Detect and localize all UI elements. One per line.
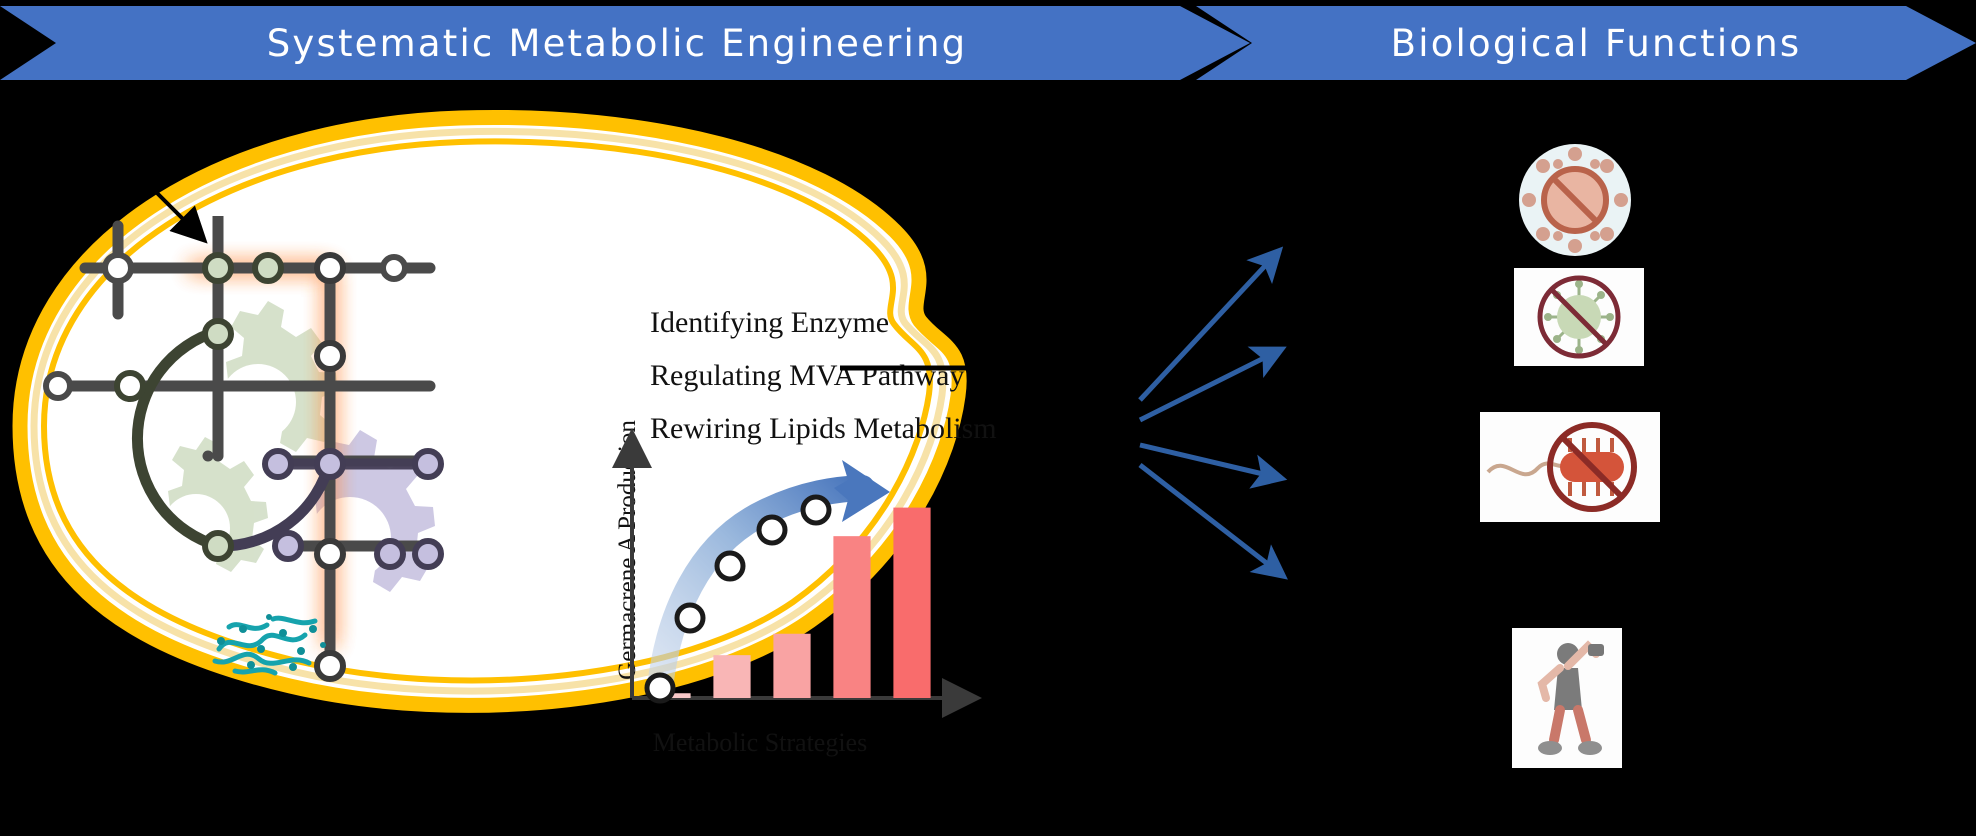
chart-marker [647, 675, 673, 701]
graphical-abstract: Systematic Metabolic Engineering Biologi… [0, 0, 1976, 836]
banner-biological-functions: Biological Functions [1196, 6, 1976, 80]
banner-left-label: Systematic Metabolic Engineering [267, 22, 968, 65]
strategy-item-1: Identifying Enzyme [650, 296, 1070, 349]
cell-container: Identifying Enzyme Regulating MVA Pathwa… [0, 96, 1000, 736]
chart-marker [803, 497, 829, 523]
chart-x-axis-label: Metabolic Strategies [610, 728, 910, 758]
chart-bar [713, 655, 750, 698]
chart-marker [759, 517, 785, 543]
chart-bar [773, 634, 810, 698]
icon-anti-virus [1500, 140, 1650, 260]
banner-systematic-metabolic-engineering: Systematic Metabolic Engineering [0, 6, 1250, 80]
chart-marker [717, 553, 743, 579]
banner-right-label: Biological Functions [1391, 22, 1802, 65]
arrow-to-fitness [1140, 465, 1282, 575]
gear-green-icon [220, 301, 338, 452]
chart-marker [677, 605, 703, 631]
arrow-to-anti-viral [1140, 350, 1280, 420]
cell-connector-line [840, 358, 1010, 378]
chart-plot-area [590, 426, 990, 726]
chart-bar [833, 536, 870, 698]
arrow-to-anti-virus [1140, 252, 1278, 400]
function-arrows [1130, 200, 1510, 680]
banner-row: Systematic Metabolic Engineering Biologi… [0, 0, 1976, 88]
production-bar-chart: Germacrene A Production Metabolic Strate… [590, 426, 990, 786]
icon-fitness-exercise [1512, 628, 1622, 768]
arrow-to-anti-bacterial [1140, 445, 1280, 478]
icon-anti-bacterial [1480, 412, 1660, 522]
protein-structure-icon [205, 601, 335, 681]
icon-anti-viral-coronavirus [1514, 268, 1644, 366]
chart-bar [893, 508, 930, 698]
